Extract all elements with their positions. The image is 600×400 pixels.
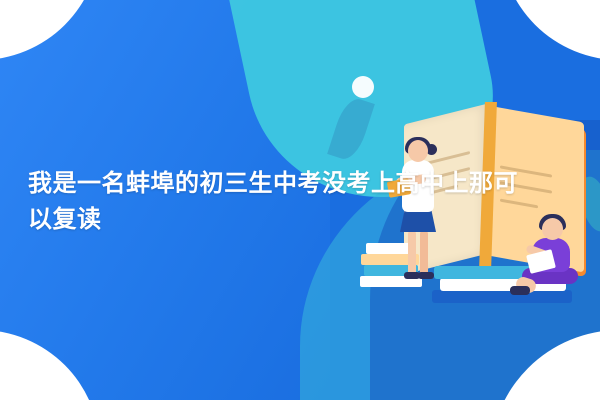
illustrated-banner: 我是一名蚌埠的初三生中考没考上高中上那可 以复读 xyxy=(0,0,600,400)
headline-block: 我是一名蚌埠的初三生中考没考上高中上那可 以复读 xyxy=(28,166,528,238)
person-shoe xyxy=(510,286,530,295)
headline-line-2: 以复读 xyxy=(28,202,528,238)
person-head xyxy=(542,218,563,240)
sun-icon xyxy=(352,76,374,98)
screenshot-canvas: 我是一名蚌埠的初三生中考没考上高中上那可 以复读 xyxy=(0,0,600,400)
person-shoe xyxy=(418,272,434,279)
headline-line-1: 我是一名蚌埠的初三生中考没考上高中上那可 xyxy=(28,166,528,202)
person-head xyxy=(408,140,428,162)
